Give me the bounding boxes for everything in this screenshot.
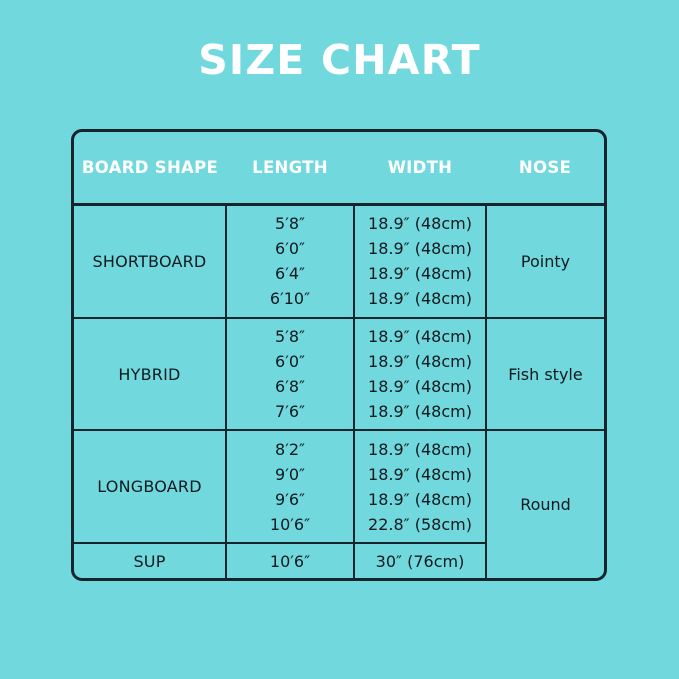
table-row: LONGBOARD 8′2″ 9′0″ 9′6″ 10′6″ 18.9″ (48… xyxy=(74,430,604,543)
cell-width: 30″ (76cm) xyxy=(354,543,486,578)
cell-length: 5′8″ 6′0″ 6′8″ 7′6″ xyxy=(226,318,354,431)
width-value: 18.9″ (48cm) xyxy=(357,324,483,349)
length-value: 6′10″ xyxy=(229,286,351,311)
cell-nose: Fish style xyxy=(486,318,604,431)
length-list: 5′8″ 6′0″ 6′8″ 7′6″ xyxy=(229,324,351,424)
width-list: 18.9″ (48cm) 18.9″ (48cm) 18.9″ (48cm) 1… xyxy=(357,324,483,424)
size-chart-page: SIZE CHART BOARD SHAPE LENGTH WIDTH NOSE xyxy=(0,0,679,679)
cell-nose: Pointy xyxy=(486,205,604,318)
width-list: 18.9″ (48cm) 18.9″ (48cm) 18.9″ (48cm) 2… xyxy=(357,437,483,537)
width-list: 30″ (76cm) xyxy=(357,549,483,574)
cell-length: 8′2″ 9′0″ 9′6″ 10′6″ xyxy=(226,430,354,543)
table-body: SHORTBOARD 5′8″ 6′0″ 6′4″ 6′10″ 18.9″ (4… xyxy=(74,205,604,579)
width-value: 18.9″ (48cm) xyxy=(357,374,483,399)
cell-board-shape: SUP xyxy=(74,543,226,578)
length-list: 8′2″ 9′0″ 9′6″ 10′6″ xyxy=(229,437,351,537)
length-list: 10′6″ xyxy=(229,549,351,574)
cell-nose: Round xyxy=(486,430,604,578)
size-chart-table-container: BOARD SHAPE LENGTH WIDTH NOSE SHORTBOARD… xyxy=(71,129,607,581)
length-value: 6′4″ xyxy=(229,261,351,286)
cell-length: 5′8″ 6′0″ 6′4″ 6′10″ xyxy=(226,205,354,318)
cell-width: 18.9″ (48cm) 18.9″ (48cm) 18.9″ (48cm) 1… xyxy=(354,318,486,431)
width-value: 18.9″ (48cm) xyxy=(357,437,483,462)
width-value: 18.9″ (48cm) xyxy=(357,261,483,286)
cell-length: 10′6″ xyxy=(226,543,354,578)
size-chart-table: BOARD SHAPE LENGTH WIDTH NOSE SHORTBOARD… xyxy=(74,132,604,578)
length-value: 6′0″ xyxy=(229,349,351,374)
page-title: SIZE CHART xyxy=(0,36,679,84)
width-value: 18.9″ (48cm) xyxy=(357,236,483,261)
length-value: 6′0″ xyxy=(229,236,351,261)
length-value: 9′6″ xyxy=(229,487,351,512)
width-value: 30″ (76cm) xyxy=(357,549,483,574)
width-value: 22.8″ (58cm) xyxy=(357,512,483,537)
length-value: 8′2″ xyxy=(229,437,351,462)
cell-width: 18.9″ (48cm) 18.9″ (48cm) 18.9″ (48cm) 1… xyxy=(354,205,486,318)
length-value: 5′8″ xyxy=(229,211,351,236)
width-value: 18.9″ (48cm) xyxy=(357,487,483,512)
width-value: 18.9″ (48cm) xyxy=(357,211,483,236)
table-row: SHORTBOARD 5′8″ 6′0″ 6′4″ 6′10″ 18.9″ (4… xyxy=(74,205,604,318)
table-row: HYBRID 5′8″ 6′0″ 6′8″ 7′6″ 18.9″ (48cm) … xyxy=(74,318,604,431)
cell-board-shape: SHORTBOARD xyxy=(74,205,226,318)
cell-width: 18.9″ (48cm) 18.9″ (48cm) 18.9″ (48cm) 2… xyxy=(354,430,486,543)
width-value: 18.9″ (48cm) xyxy=(357,399,483,424)
length-value: 5′8″ xyxy=(229,324,351,349)
cell-board-shape: HYBRID xyxy=(74,318,226,431)
width-value: 18.9″ (48cm) xyxy=(357,349,483,374)
length-value: 6′8″ xyxy=(229,374,351,399)
column-header-width: WIDTH xyxy=(354,132,486,205)
length-value: 10′6″ xyxy=(229,512,351,537)
length-value: 10′6″ xyxy=(229,549,351,574)
column-header-nose: NOSE xyxy=(486,132,604,205)
cell-board-shape: LONGBOARD xyxy=(74,430,226,543)
table-header: BOARD SHAPE LENGTH WIDTH NOSE xyxy=(74,132,604,205)
length-value: 9′0″ xyxy=(229,462,351,487)
column-header-board-shape: BOARD SHAPE xyxy=(74,132,226,205)
width-list: 18.9″ (48cm) 18.9″ (48cm) 18.9″ (48cm) 1… xyxy=(357,211,483,311)
header-row: BOARD SHAPE LENGTH WIDTH NOSE xyxy=(74,132,604,205)
column-header-length: LENGTH xyxy=(226,132,354,205)
length-list: 5′8″ 6′0″ 6′4″ 6′10″ xyxy=(229,211,351,311)
length-value: 7′6″ xyxy=(229,399,351,424)
width-value: 18.9″ (48cm) xyxy=(357,462,483,487)
width-value: 18.9″ (48cm) xyxy=(357,286,483,311)
